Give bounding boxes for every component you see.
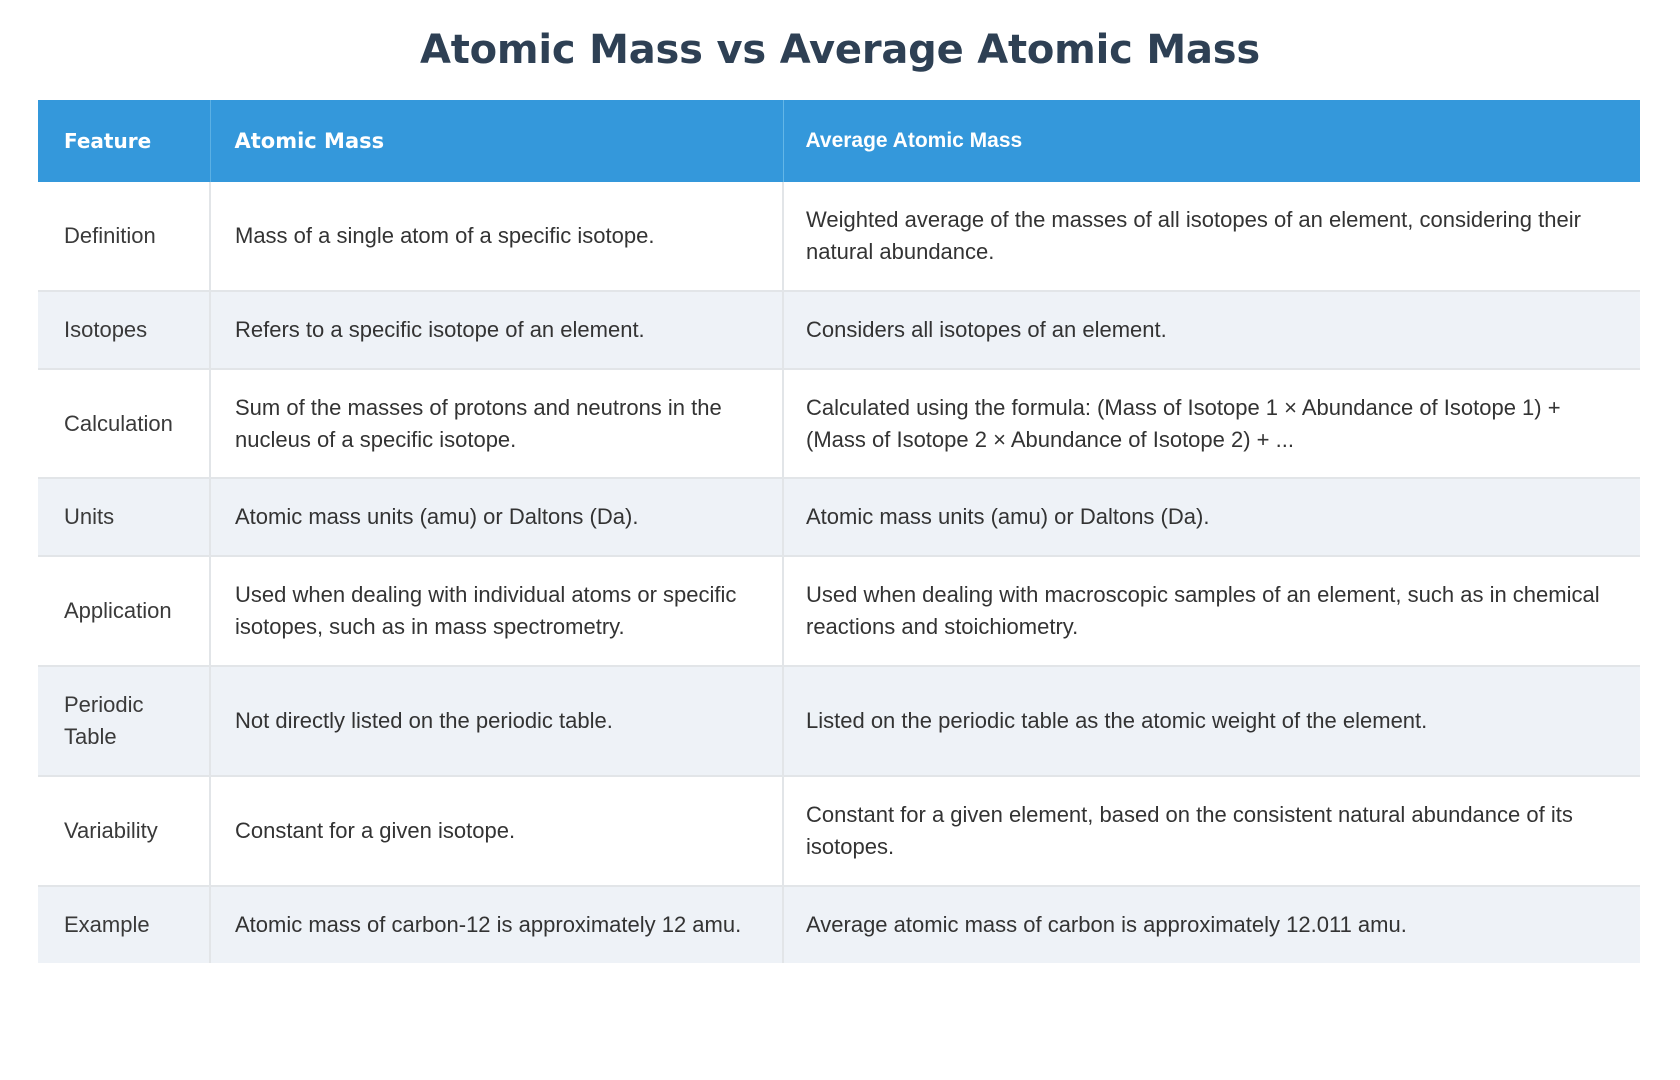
cell-feature: Application <box>38 556 210 666</box>
table-row: ApplicationUsed when dealing with indivi… <box>38 556 1640 666</box>
cell-atomic-mass: Constant for a given isotope. <box>210 776 783 886</box>
table-row: VariabilityConstant for a given isotope.… <box>38 776 1640 886</box>
cell-atomic-mass: Atomic mass units (amu) or Daltons (Da). <box>210 478 783 556</box>
cell-feature: Periodic Table <box>38 666 210 776</box>
table-row: DefinitionMass of a single atom of a spe… <box>38 182 1640 291</box>
cell-atomic-mass: Mass of a single atom of a specific isot… <box>210 182 783 291</box>
cell-atomic-mass: Atomic mass of carbon-12 is approximatel… <box>210 886 783 963</box>
table-header-row: Feature Atomic Mass Average Atomic Mass <box>38 100 1640 182</box>
cell-average-atomic-mass: Listed on the periodic table as the atom… <box>783 666 1640 776</box>
cell-average-atomic-mass: Average atomic mass of carbon is approxi… <box>783 886 1640 963</box>
page-title: Atomic Mass vs Average Atomic Mass <box>0 0 1680 74</box>
table-header: Feature Atomic Mass Average Atomic Mass <box>38 100 1640 182</box>
cell-average-atomic-mass: Considers all isotopes of an element. <box>783 291 1640 369</box>
column-header-feature: Feature <box>38 100 210 182</box>
table-row: Periodic TableNot directly listed on the… <box>38 666 1640 776</box>
comparison-table: Feature Atomic Mass Average Atomic Mass … <box>38 100 1640 963</box>
cell-atomic-mass: Sum of the masses of protons and neutron… <box>210 369 783 479</box>
cell-feature: Isotopes <box>38 291 210 369</box>
cell-feature: Example <box>38 886 210 963</box>
cell-average-atomic-mass: Calculated using the formula: (Mass of I… <box>783 369 1640 479</box>
table-body: DefinitionMass of a single atom of a spe… <box>38 182 1640 963</box>
column-header-average-atomic-mass: Average Atomic Mass <box>783 100 1640 182</box>
table-row: UnitsAtomic mass units (amu) or Daltons … <box>38 478 1640 556</box>
cell-atomic-mass: Refers to a specific isotope of an eleme… <box>210 291 783 369</box>
cell-atomic-mass: Not directly listed on the periodic tabl… <box>210 666 783 776</box>
column-header-atomic-mass: Atomic Mass <box>210 100 783 182</box>
cell-feature: Variability <box>38 776 210 886</box>
table-row: CalculationSum of the masses of protons … <box>38 369 1640 479</box>
page-root: Atomic Mass vs Average Atomic Mass Featu… <box>0 0 1680 1080</box>
table-row: ExampleAtomic mass of carbon-12 is appro… <box>38 886 1640 963</box>
cell-average-atomic-mass: Weighted average of the masses of all is… <box>783 182 1640 291</box>
table-row: IsotopesRefers to a specific isotope of … <box>38 291 1640 369</box>
cell-average-atomic-mass: Atomic mass units (amu) or Daltons (Da). <box>783 478 1640 556</box>
cell-feature: Calculation <box>38 369 210 479</box>
comparison-table-container: Feature Atomic Mass Average Atomic Mass … <box>38 100 1640 963</box>
cell-atomic-mass: Used when dealing with individual atoms … <box>210 556 783 666</box>
cell-feature: Units <box>38 478 210 556</box>
cell-feature: Definition <box>38 182 210 291</box>
cell-average-atomic-mass: Constant for a given element, based on t… <box>783 776 1640 886</box>
cell-average-atomic-mass: Used when dealing with macroscopic sampl… <box>783 556 1640 666</box>
